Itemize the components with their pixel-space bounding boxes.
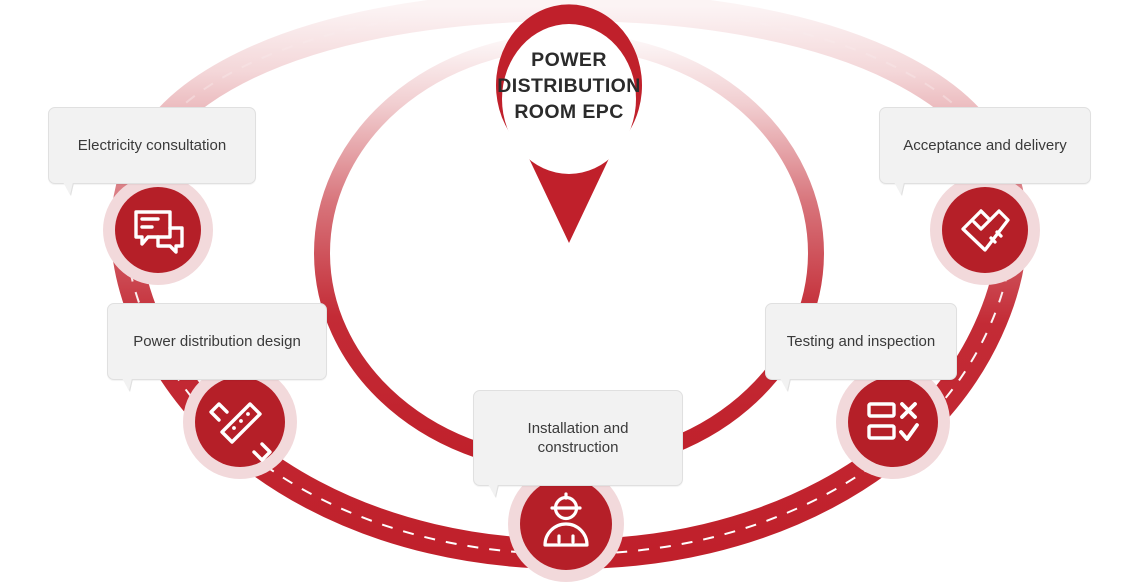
label-tail [122,378,132,391]
node-disc [942,187,1028,273]
node-acceptance-and-delivery[interactable] [930,175,1040,285]
label-text: Acceptance and delivery [903,137,1066,154]
label-tail [780,378,790,391]
label-acceptance-and-delivery[interactable]: Acceptance and delivery [879,107,1091,184]
label-text: Power distribution design [133,333,301,350]
label-electricity-consultation[interactable]: Electricity consultation [48,107,256,184]
label-text: Installation and construction [528,420,629,456]
label-text: Testing and inspection [787,333,935,350]
label-installation-and-construction[interactable]: Installation and construction [473,390,683,486]
node-disc [115,187,201,273]
label-text: Electricity consultation [78,137,226,154]
label-power-distribution-design[interactable]: Power distribution design [107,303,327,380]
node-testing-and-inspection[interactable] [836,365,950,479]
label-tail [488,484,498,497]
node-disc [848,377,938,467]
node-power-distribution-design[interactable] [183,365,297,479]
center-pin-shape [496,4,642,243]
label-tail [63,182,73,195]
process-loop-graphic [0,0,1139,587]
label-tail [894,182,904,195]
diagram-canvas: POWER DISTRIBUTION ROOM EPC Electricity … [0,0,1139,587]
node-electricity-consultation[interactable] [103,175,213,285]
label-testing-and-inspection[interactable]: Testing and inspection [765,303,957,380]
